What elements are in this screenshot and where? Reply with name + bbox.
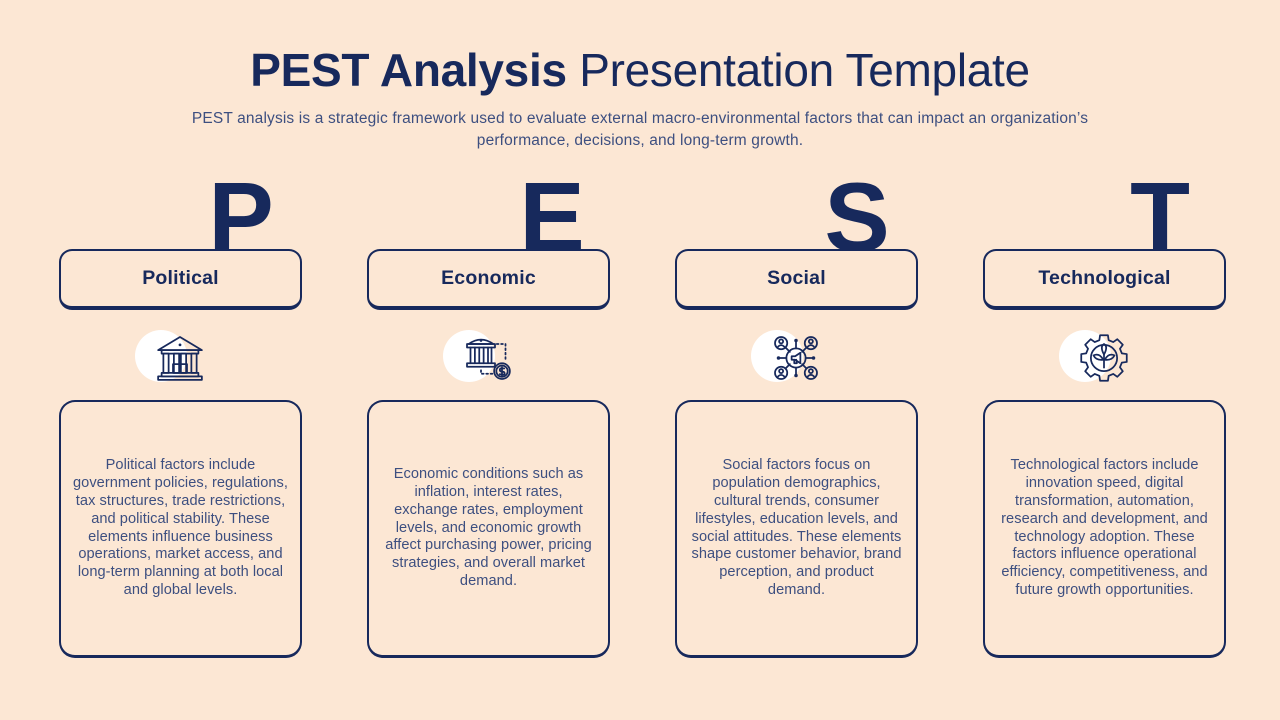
pest-column-social: S Social bbox=[673, 0, 981, 720]
bank-dollar-icon bbox=[460, 330, 516, 386]
pest-column-political: P Political Po bbox=[57, 0, 365, 720]
icon-row-economic bbox=[365, 330, 610, 386]
label-box-technological[interactable]: Technological bbox=[983, 249, 1226, 310]
content-text-social: Social factors focus on population demog… bbox=[689, 457, 904, 599]
pest-analysis-slide: PEST Analysis Presentation Template PEST… bbox=[0, 0, 1280, 720]
content-box-social: Social factors focus on population demog… bbox=[675, 400, 918, 658]
label-text-social: Social bbox=[767, 267, 826, 290]
content-text-technological: Technological factors include innovation… bbox=[997, 457, 1212, 599]
label-text-economic: Economic bbox=[441, 267, 536, 290]
content-text-economic: Economic conditions such as inflation, i… bbox=[381, 466, 596, 591]
content-box-technological: Technological factors include innovation… bbox=[983, 400, 1226, 658]
content-box-political: Political factors include government pol… bbox=[59, 400, 302, 658]
pest-column-economic: E Economic Eco bbox=[365, 0, 673, 720]
icon-row-social bbox=[673, 330, 918, 386]
icon-row-technological bbox=[981, 330, 1226, 386]
government-building-icon bbox=[152, 330, 208, 386]
gear-plant-icon bbox=[1076, 330, 1132, 386]
icon-row-political bbox=[57, 330, 302, 386]
content-text-political: Political factors include government pol… bbox=[73, 457, 288, 599]
label-text-political: Political bbox=[142, 267, 219, 290]
social-network-megaphone-icon bbox=[768, 330, 824, 386]
content-box-economic: Economic conditions such as inflation, i… bbox=[367, 400, 610, 658]
label-box-economic[interactable]: Economic bbox=[367, 249, 610, 310]
pest-column-technological: T Technological Technological factors in… bbox=[981, 0, 1280, 720]
label-box-political[interactable]: Political bbox=[59, 249, 302, 310]
label-box-social[interactable]: Social bbox=[675, 249, 918, 310]
label-text-technological: Technological bbox=[1038, 267, 1170, 290]
